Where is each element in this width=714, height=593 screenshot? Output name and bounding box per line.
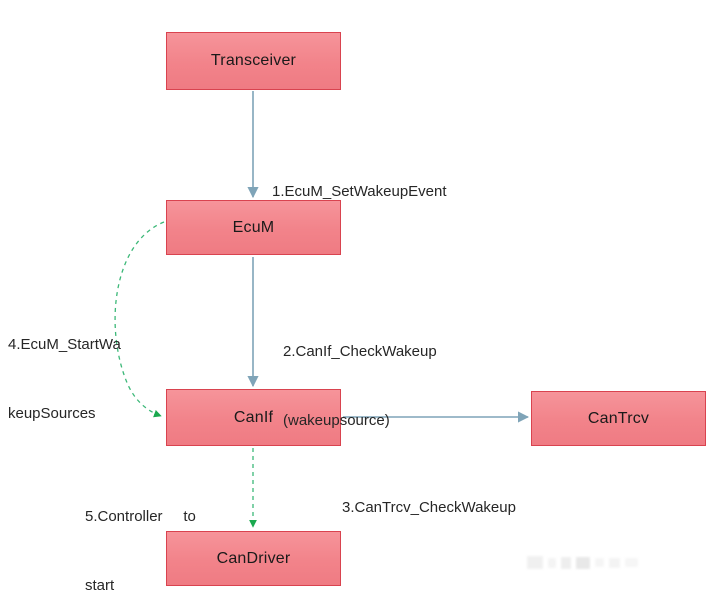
node-label-transceiver: Transceiver xyxy=(211,52,296,70)
node-label-canif: CanIf xyxy=(234,409,273,427)
edge-label-4-line-1: 4.EcuM_StartWa xyxy=(8,333,121,356)
edge-label-3-line-1: 3.CanTrcv_CheckWakeup xyxy=(342,496,516,519)
watermark-block xyxy=(625,558,638,567)
watermark-block xyxy=(548,558,556,568)
edge-label-2-line-2: (wakeupsource) xyxy=(283,409,437,432)
node-transceiver[interactable]: Transceiver xyxy=(166,32,341,90)
watermark xyxy=(527,556,643,569)
edge-path-ecum-to-canif-start-wakeup-sources xyxy=(115,222,164,416)
watermark-block xyxy=(595,558,604,567)
watermark-block xyxy=(527,556,543,569)
edge-label-1-ecum-setwakeupevent: 1.EcuM_SetWakeupEvent xyxy=(272,134,447,249)
node-cantrcv[interactable]: CanTrcv xyxy=(531,391,706,446)
edge-label-5-line-2: start xyxy=(85,574,196,593)
node-label-cantrcv: CanTrcv xyxy=(588,410,649,428)
edge-label-5-line-1: 5.Controller to xyxy=(85,505,196,528)
node-label-candriver: CanDriver xyxy=(217,550,291,568)
edge-label-4-ecum-startwakeupsources: 4.EcuM_StartWa keupSources xyxy=(8,287,121,471)
watermark-block xyxy=(609,558,620,568)
edge-label-1-line-1: 1.EcuM_SetWakeupEvent xyxy=(272,180,447,203)
diagram-canvas: Transceiver EcuM CanIf CanTrcv CanDriver… xyxy=(0,0,714,593)
edge-label-5-controller-to-start: 5.Controller to start xyxy=(85,459,196,593)
edge-label-2-line-1: 2.CanIf_CheckWakeup xyxy=(283,340,437,363)
watermark-block xyxy=(561,557,571,569)
watermark-block xyxy=(576,557,590,569)
node-label-ecum: EcuM xyxy=(233,219,275,237)
edge-label-4-line-2: keupSources xyxy=(8,402,121,425)
edge-label-3-cantrcv-checkwakeup: 3.CanTrcv_CheckWakeup xyxy=(342,450,516,565)
